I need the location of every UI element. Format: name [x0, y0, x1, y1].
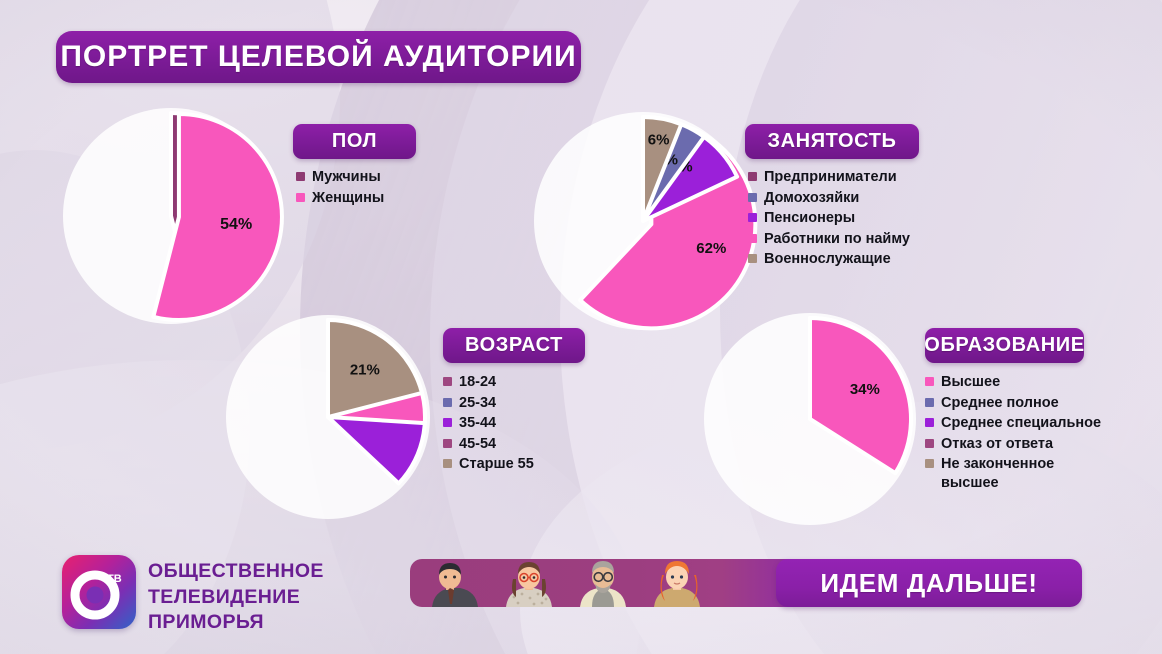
pie-slice-label: 62% [696, 240, 726, 257]
legend-label: Предприниматели [764, 168, 897, 187]
legend-swatch [748, 213, 757, 222]
cta-button[interactable]: ИДЕМ ДАЛЬШЕ! [776, 559, 1082, 607]
legend-swatch [296, 172, 305, 181]
legend-item: 45-54 [443, 435, 534, 454]
legend-employment: ПредпринимателиДомохозяйкиПенсионерыРабо… [748, 168, 910, 271]
pie-slice-label: 34% [850, 381, 880, 398]
legend-label: Работники по найму [764, 230, 910, 249]
legend-swatch [925, 418, 934, 427]
legend-gender: МужчиныЖенщины [296, 168, 384, 209]
person-man [432, 563, 478, 607]
legend-item: Среднее специальное [925, 414, 1101, 433]
legend-swatch [748, 193, 757, 202]
brand-line-1: ОБЩЕСТВЕННОЕ [148, 559, 408, 585]
legend-label: Домохозяйки [764, 189, 859, 208]
legend-item: 18-24 [443, 373, 534, 392]
legend-item: Отказ от ответа [925, 435, 1101, 454]
infographic-canvas: ПОРТРЕТ ЦЕЛЕВОЙ АУДИТОРИИ 46%54% ПОЛ Муж… [0, 0, 1162, 654]
legend-item: Не законченное высшее [925, 455, 1101, 492]
legend-label: Высшее [941, 373, 1000, 392]
legend-label: 18-24 [459, 373, 496, 392]
legend-label: 25-34 [459, 394, 496, 413]
legend-item: Военнослужащие [748, 250, 910, 269]
legend-swatch [443, 377, 452, 386]
legend-education: ВысшееСреднее полноеСреднее специальноеО… [925, 373, 1101, 494]
legend-item: Старше 55 [443, 455, 534, 474]
pie-slice-label: 6% [648, 131, 670, 148]
legend-swatch [443, 398, 452, 407]
legend-item: Предприниматели [748, 168, 910, 187]
page-title: ПОРТРЕТ ЦЕЛЕВОЙ АУДИТОРИИ [56, 31, 581, 83]
person-woman-glasses [506, 562, 552, 607]
legend-label: 35-44 [459, 414, 496, 433]
legend-swatch [443, 459, 452, 468]
legend-label: 45-54 [459, 435, 496, 454]
brand-line-2: ТЕЛЕВИДЕНИЕ [148, 585, 408, 611]
brand-name: ОБЩЕСТВЕННОЕ ТЕЛЕВИДЕНИЕ ПРИМОРЬЯ [148, 559, 408, 636]
legend-label: Старше 55 [459, 455, 534, 474]
chart-title-employment: ЗАНЯТОСТЬ [745, 124, 919, 159]
legend-label: Отказ от ответа [941, 435, 1053, 454]
legend-label: Женщины [312, 189, 384, 208]
pie-slice-label: 21% [350, 361, 380, 378]
legend-label: Военнослужащие [764, 250, 891, 269]
legend-item: Мужчины [296, 168, 384, 187]
legend-label: Среднее полное [941, 394, 1059, 413]
legend-swatch [748, 234, 757, 243]
logo-badge-text: ТВ [107, 573, 122, 585]
legend-swatch [925, 398, 934, 407]
pie-chart-age: 6%10%37%26%21% [220, 306, 440, 526]
legend-label: Не законченное высшее [941, 455, 1054, 492]
people-graphic [410, 559, 810, 607]
otv-logo-icon: ТВ [62, 555, 136, 629]
legend-item: Среднее полное [925, 394, 1101, 413]
logo-glyph: ТВ [62, 555, 136, 629]
legend-swatch [296, 193, 305, 202]
pie-chart-education: 22%32%7%5%34% [698, 306, 924, 532]
pie-slice-label: 54% [220, 216, 252, 233]
legend-swatch [925, 377, 934, 386]
brand-line-3: ПРИМОРЬЯ [148, 610, 408, 636]
legend-item: Домохозяйки [748, 189, 910, 208]
legend-swatch [443, 439, 452, 448]
legend-label: Пенсионеры [764, 209, 855, 228]
legend-swatch [748, 254, 757, 263]
legend-item: Работники по найму [748, 230, 910, 249]
legend-label: Мужчины [312, 168, 381, 187]
chart-title-gender: ПОЛ [293, 124, 416, 159]
pie-chart-gender: 46%54% [48, 96, 294, 336]
legend-item: 25-34 [443, 394, 534, 413]
legend-swatch [925, 439, 934, 448]
legend-item: Высшее [925, 373, 1101, 392]
four-people-illustration [410, 559, 810, 607]
legend-swatch [443, 418, 452, 427]
person-older-man [580, 561, 626, 607]
legend-swatch [925, 459, 934, 468]
legend-swatch [748, 172, 757, 181]
legend-item: Женщины [296, 189, 384, 208]
legend-item: 35-44 [443, 414, 534, 433]
legend-label: Среднее специальное [941, 414, 1101, 433]
legend-age: 18-2425-3435-4445-54Старше 55 [443, 373, 534, 476]
person-redhead-woman [654, 561, 700, 607]
legend-item: Пенсионеры [748, 209, 910, 228]
chart-title-age: ВОЗРАСТ [443, 328, 585, 363]
chart-title-education: ОБРАЗОВАНИЕ [925, 328, 1084, 363]
